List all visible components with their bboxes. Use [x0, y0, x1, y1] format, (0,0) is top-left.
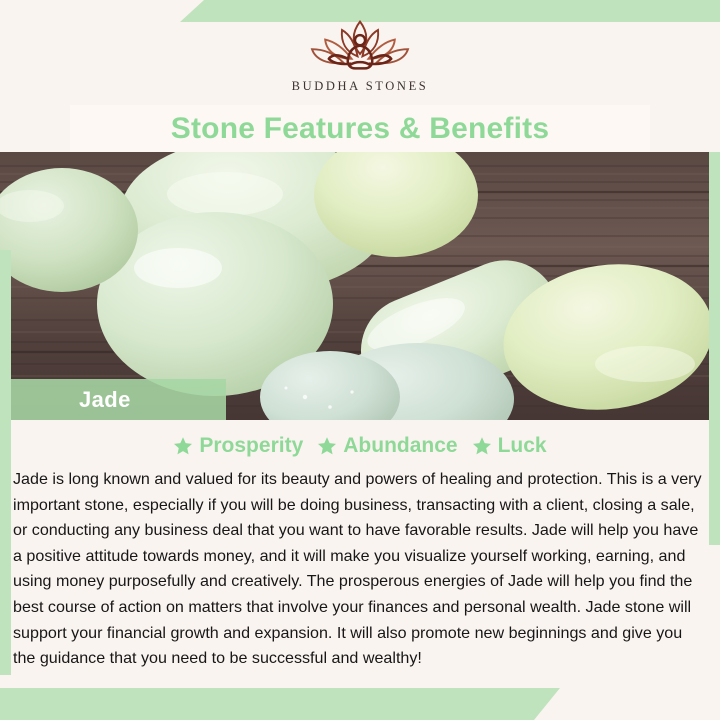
benefit-label: Luck: [498, 434, 547, 458]
decorative-left-green-bar: [0, 250, 11, 675]
brand-header: BUDDHA STONES: [0, 0, 720, 105]
star-icon: [317, 436, 337, 456]
stone-info-card: BUDDHA STONES Stone Features & Benefits: [0, 0, 720, 720]
stone-name-label: Jade: [79, 387, 131, 413]
stone-photo: Jade: [0, 152, 720, 420]
benefits-row: Prosperity Abundance Luck: [0, 432, 720, 460]
lotus-meditation-icon: [300, 12, 420, 78]
benefit-item: Prosperity: [173, 434, 303, 458]
title-banner: Stone Features & Benefits: [70, 105, 650, 152]
page-title: Stone Features & Benefits: [171, 112, 549, 146]
decorative-right-green-bar: [709, 152, 720, 545]
benefit-label: Abundance: [343, 434, 457, 458]
stone-description: Jade is long known and valued for its be…: [13, 467, 707, 672]
star-icon: [472, 436, 492, 456]
brand-name: BUDDHA STONES: [292, 79, 429, 94]
decorative-bottom-green-band: [0, 688, 560, 720]
stone-name-tag: Jade: [11, 379, 226, 420]
benefit-item: Abundance: [317, 434, 457, 458]
benefit-item: Luck: [472, 434, 547, 458]
benefit-label: Prosperity: [199, 434, 303, 458]
star-icon: [173, 436, 193, 456]
